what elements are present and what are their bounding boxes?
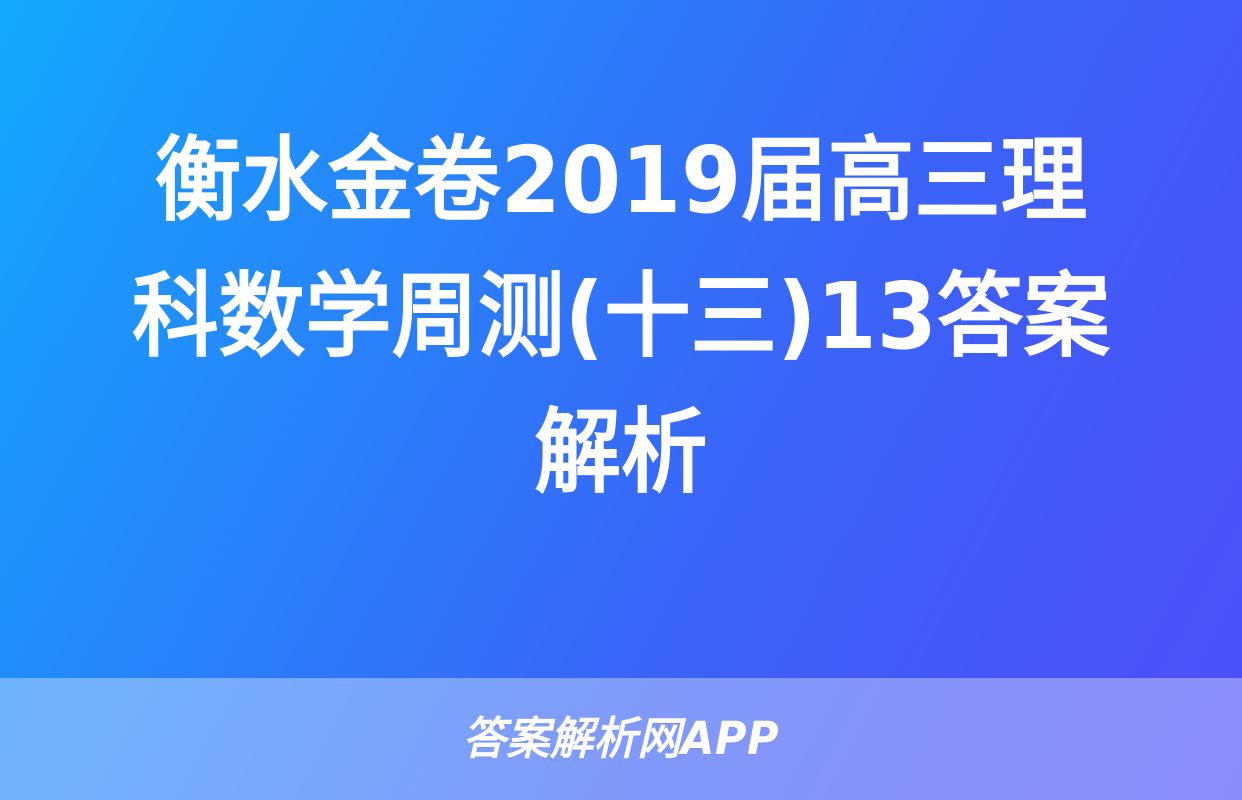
title-line-2: 科数学周测(十三)13答案 (81, 249, 1162, 385)
app-brand-label: 答案解析网APP (463, 715, 780, 763)
title-block: 衡水金卷2019届高三理 科数学周测(十三)13答案 解析 (0, 0, 1242, 678)
title-line-3: 解析 (81, 385, 1162, 521)
title-line-1: 衡水金卷2019届高三理 (81, 113, 1162, 249)
promo-card: 衡水金卷2019届高三理 科数学周测(十三)13答案 解析 答案解析网APP (0, 0, 1242, 800)
footer-band: 答案解析网APP (0, 678, 1242, 800)
